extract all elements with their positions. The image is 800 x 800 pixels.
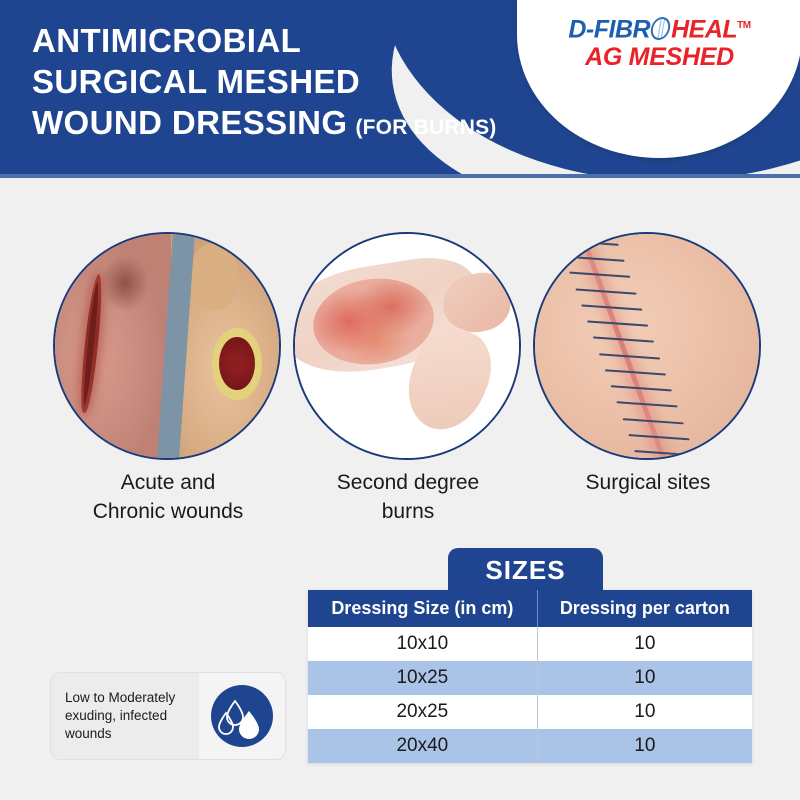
brand-logo-heal: HEAL	[671, 15, 737, 43]
exudate-info-line-1: Low to Moderately	[65, 689, 193, 707]
exudate-info-line-2: exuding, infected	[65, 707, 193, 725]
sizes-table-body: 10x10 10 10x25 10 20x25 10 20x40 10	[308, 627, 752, 763]
water-droplets-svg	[211, 685, 273, 747]
cell-dressing-per-carton: 10	[537, 627, 752, 661]
brand-logo-dfibro: D-FIBR	[568, 15, 650, 43]
cell-dressing-size: 20x40	[308, 729, 537, 763]
linear-wound-shape	[78, 274, 105, 413]
photo-caption-2: Second degree burns	[283, 468, 533, 526]
photo-circle-1	[53, 232, 281, 460]
title-line-3: WOUND DRESSING(FOR BURNS)	[32, 102, 552, 148]
cell-dressing-size: 10x10	[308, 627, 537, 661]
exudate-info-box: Low to Moderately exuding, infected woun…	[50, 672, 286, 760]
page-title: ANTIMICROBIAL SURGICAL MESHED WOUND DRES…	[32, 20, 552, 148]
incision-line	[579, 233, 668, 460]
sizes-table: Dressing Size (in cm) Dressing per carto…	[308, 590, 752, 763]
photo-item-surgical-sites	[533, 232, 761, 460]
column-header-dressing-per-carton: Dressing per carton	[537, 590, 752, 627]
photo-caption-2-line-1: Second degree	[283, 468, 533, 497]
title-suffix: (FOR BURNS)	[355, 116, 496, 139]
exudate-info-line-3: wounds	[65, 725, 193, 743]
brand-logo-inner: D-FIBRHEALTM AG MESHED	[517, 12, 800, 71]
brand-logo-line-1: D-FIBRHEALTM	[517, 12, 800, 43]
photo-caption-3-line-1: Surgical sites	[523, 468, 773, 497]
incision-group	[533, 232, 734, 460]
sizes-table-header-row: Dressing Size (in cm) Dressing per carto…	[308, 590, 752, 627]
photo-caption-3: Surgical sites	[523, 468, 773, 497]
photo-caption-1-line-1: Acute and	[43, 468, 293, 497]
droplet-outline-top	[227, 701, 243, 725]
photo-caption-1-line-2: Chronic wounds	[43, 497, 293, 526]
title-line-1: ANTIMICROBIAL	[32, 20, 552, 61]
header-bottom-edge	[0, 174, 800, 178]
exudate-info-text: Low to Moderately exuding, infected woun…	[51, 689, 199, 743]
sizes-tab-label: SIZES	[448, 548, 603, 594]
burn-photo-background	[295, 234, 519, 458]
table-row: 20x25 10	[308, 695, 752, 729]
surgical-photo-skin	[535, 234, 759, 458]
table-row: 10x10 10	[308, 627, 752, 661]
trademark-icon: TM	[737, 20, 750, 31]
photo-caption-1: Acute and Chronic wounds	[43, 468, 293, 526]
table-row: 20x40 10	[308, 729, 752, 763]
wound-photo-left-half	[55, 234, 171, 458]
cell-dressing-per-carton: 10	[537, 661, 752, 695]
photo-item-second-degree-burns	[293, 232, 521, 460]
title-line-2: SURGICAL MESHED	[32, 61, 552, 102]
photo-gallery	[0, 232, 800, 462]
sizes-table-head: Dressing Size (in cm) Dressing per carto…	[308, 590, 752, 627]
cell-dressing-size: 20x25	[308, 695, 537, 729]
cell-dressing-size: 10x25	[308, 661, 537, 695]
photo-caption-2-line-2: burns	[283, 497, 533, 526]
table-row: 10x25 10	[308, 661, 752, 695]
title-line-3-main: WOUND DRESSING	[32, 104, 347, 141]
water-droplets-icon	[211, 685, 273, 747]
photo-circle-3	[533, 232, 761, 460]
photo-circle-2	[293, 232, 521, 460]
photo-item-acute-chronic-wounds	[53, 232, 281, 460]
cell-dressing-per-carton: 10	[537, 695, 752, 729]
brand-logo-line-2: AG MESHED	[517, 43, 800, 71]
fibre-o-icon	[649, 17, 672, 40]
cell-dressing-per-carton: 10	[537, 729, 752, 763]
foot-ulcer-shape	[212, 328, 261, 400]
column-header-dressing-size: Dressing Size (in cm)	[308, 590, 537, 627]
toe-shape	[189, 243, 238, 310]
exudate-icon-cell	[199, 673, 285, 759]
